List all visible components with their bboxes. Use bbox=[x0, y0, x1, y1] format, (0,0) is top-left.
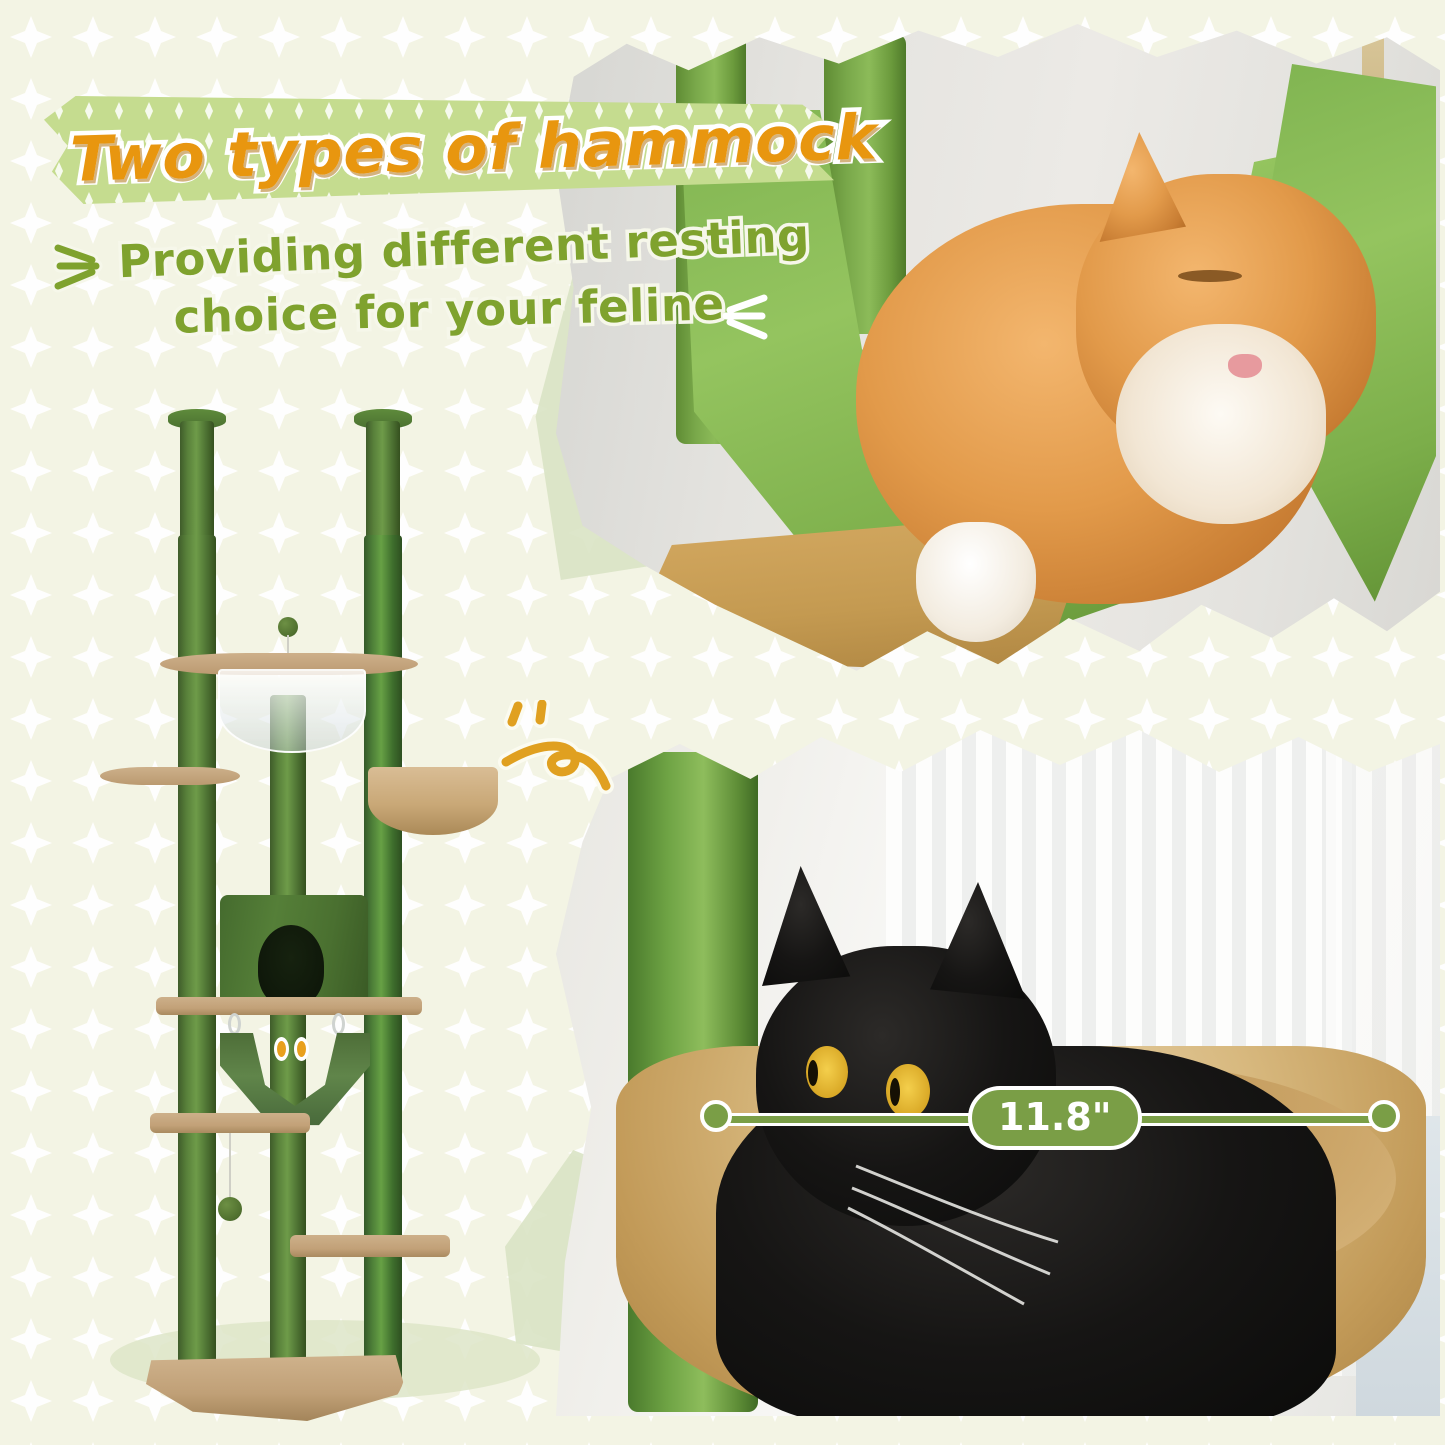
measurement-callout: 11.8" bbox=[700, 1088, 1400, 1146]
hammock-tag-left bbox=[274, 1037, 289, 1061]
dangle-toy-string bbox=[229, 1133, 231, 1201]
shelf-under-condo bbox=[156, 997, 422, 1015]
tension-post-left-upper bbox=[180, 421, 214, 541]
acrylic-dome bbox=[218, 669, 366, 753]
hanging-basket bbox=[368, 767, 498, 835]
sparkle-left-icon bbox=[50, 232, 116, 298]
sparkle-right-icon bbox=[706, 282, 772, 348]
photo-bottom-scene bbox=[556, 716, 1440, 1416]
page-background: Two types of hammock Providing different… bbox=[0, 0, 1445, 1445]
lower-shelf bbox=[290, 1235, 450, 1257]
side-shelf-left bbox=[100, 767, 240, 785]
hammock-clip-right bbox=[332, 1013, 345, 1035]
mid-shelf bbox=[150, 1113, 310, 1133]
measurement-endpoint-right bbox=[1368, 1100, 1400, 1132]
hammock-tag-right bbox=[294, 1037, 309, 1061]
platform-ball-toy bbox=[278, 617, 298, 637]
cat-tree-illustration bbox=[100, 395, 560, 1395]
hammock-clip-left bbox=[228, 1013, 241, 1035]
dangle-ball-toy bbox=[218, 1197, 242, 1221]
measurement-endpoint-left bbox=[700, 1100, 732, 1132]
measurement-value-badge: 11.8" bbox=[968, 1086, 1142, 1150]
tension-post-right-upper bbox=[366, 421, 400, 541]
corner-base bbox=[146, 1355, 406, 1421]
condo-entrance-hole bbox=[258, 925, 324, 1007]
photo-black-cat-basket bbox=[556, 716, 1440, 1416]
